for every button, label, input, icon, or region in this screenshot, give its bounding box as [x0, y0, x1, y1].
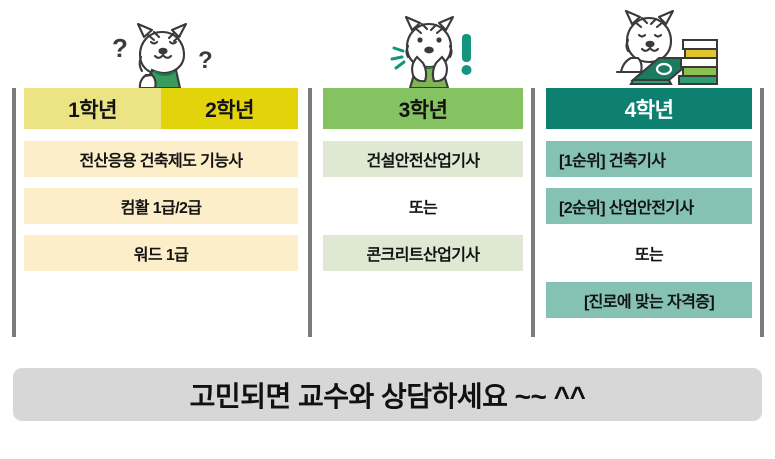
list-item: 건설안전산업기사: [323, 141, 523, 177]
question-mark-right: ?: [198, 47, 213, 74]
list-item: 워드 1급: [24, 235, 298, 271]
column-header-year-3: 3학년: [323, 88, 523, 129]
header-year-4: 4학년: [546, 88, 752, 129]
divider-2: [531, 88, 535, 337]
header-year-3: 3학년: [323, 88, 523, 129]
separator-or: 또는: [323, 188, 523, 224]
column-year-1-2: 1학년 2학년 전산응용 건축제도 기능사 컴활 1급/2급 워드 1급: [24, 88, 298, 282]
question-mark-left: ?: [112, 33, 128, 63]
advice-banner: 고민되면 교수와 상담하세요 ~~ ^^: [13, 368, 762, 421]
divider-1: [308, 88, 312, 337]
divider-left: [12, 88, 16, 337]
exclamation-mark: [462, 34, 472, 75]
column-year-3: 3학년 건설안전산업기사 또는 콘크리트산업기사: [323, 88, 523, 282]
list-item: 컴활 1급/2급: [24, 188, 298, 224]
header-year-2: 2학년: [161, 88, 298, 129]
surprised-tiger-icon: [372, 2, 488, 88]
book-stack: [679, 40, 717, 84]
studying-tiger-icon: [597, 2, 725, 88]
list-item: [진로에 맞는 자격증]: [546, 282, 752, 318]
thinking-tiger-icon: ? ?: [104, 2, 220, 88]
header-year-1: 1학년: [24, 88, 161, 129]
column-header-year-4: 4학년: [546, 88, 752, 129]
curriculum-board: 1학년 2학년 전산응용 건축제도 기능사 컴활 1급/2급 워드 1급 3학년…: [0, 88, 775, 340]
mascot-row: ? ?: [0, 0, 775, 88]
list-item: 콘크리트산업기사: [323, 235, 523, 271]
divider-right: [760, 88, 764, 337]
list-item: 전산응용 건축제도 기능사: [24, 141, 298, 177]
column-year-4: 4학년 [1순위] 건축기사 [2순위] 산업안전기사 또는 [진로에 맞는 자…: [546, 88, 752, 329]
list-item: [2순위] 산업안전기사: [546, 188, 752, 224]
list-item: [1순위] 건축기사: [546, 141, 752, 177]
column-header-year-1-2: 1학년 2학년: [24, 88, 298, 129]
separator-or: 또는: [546, 235, 752, 271]
